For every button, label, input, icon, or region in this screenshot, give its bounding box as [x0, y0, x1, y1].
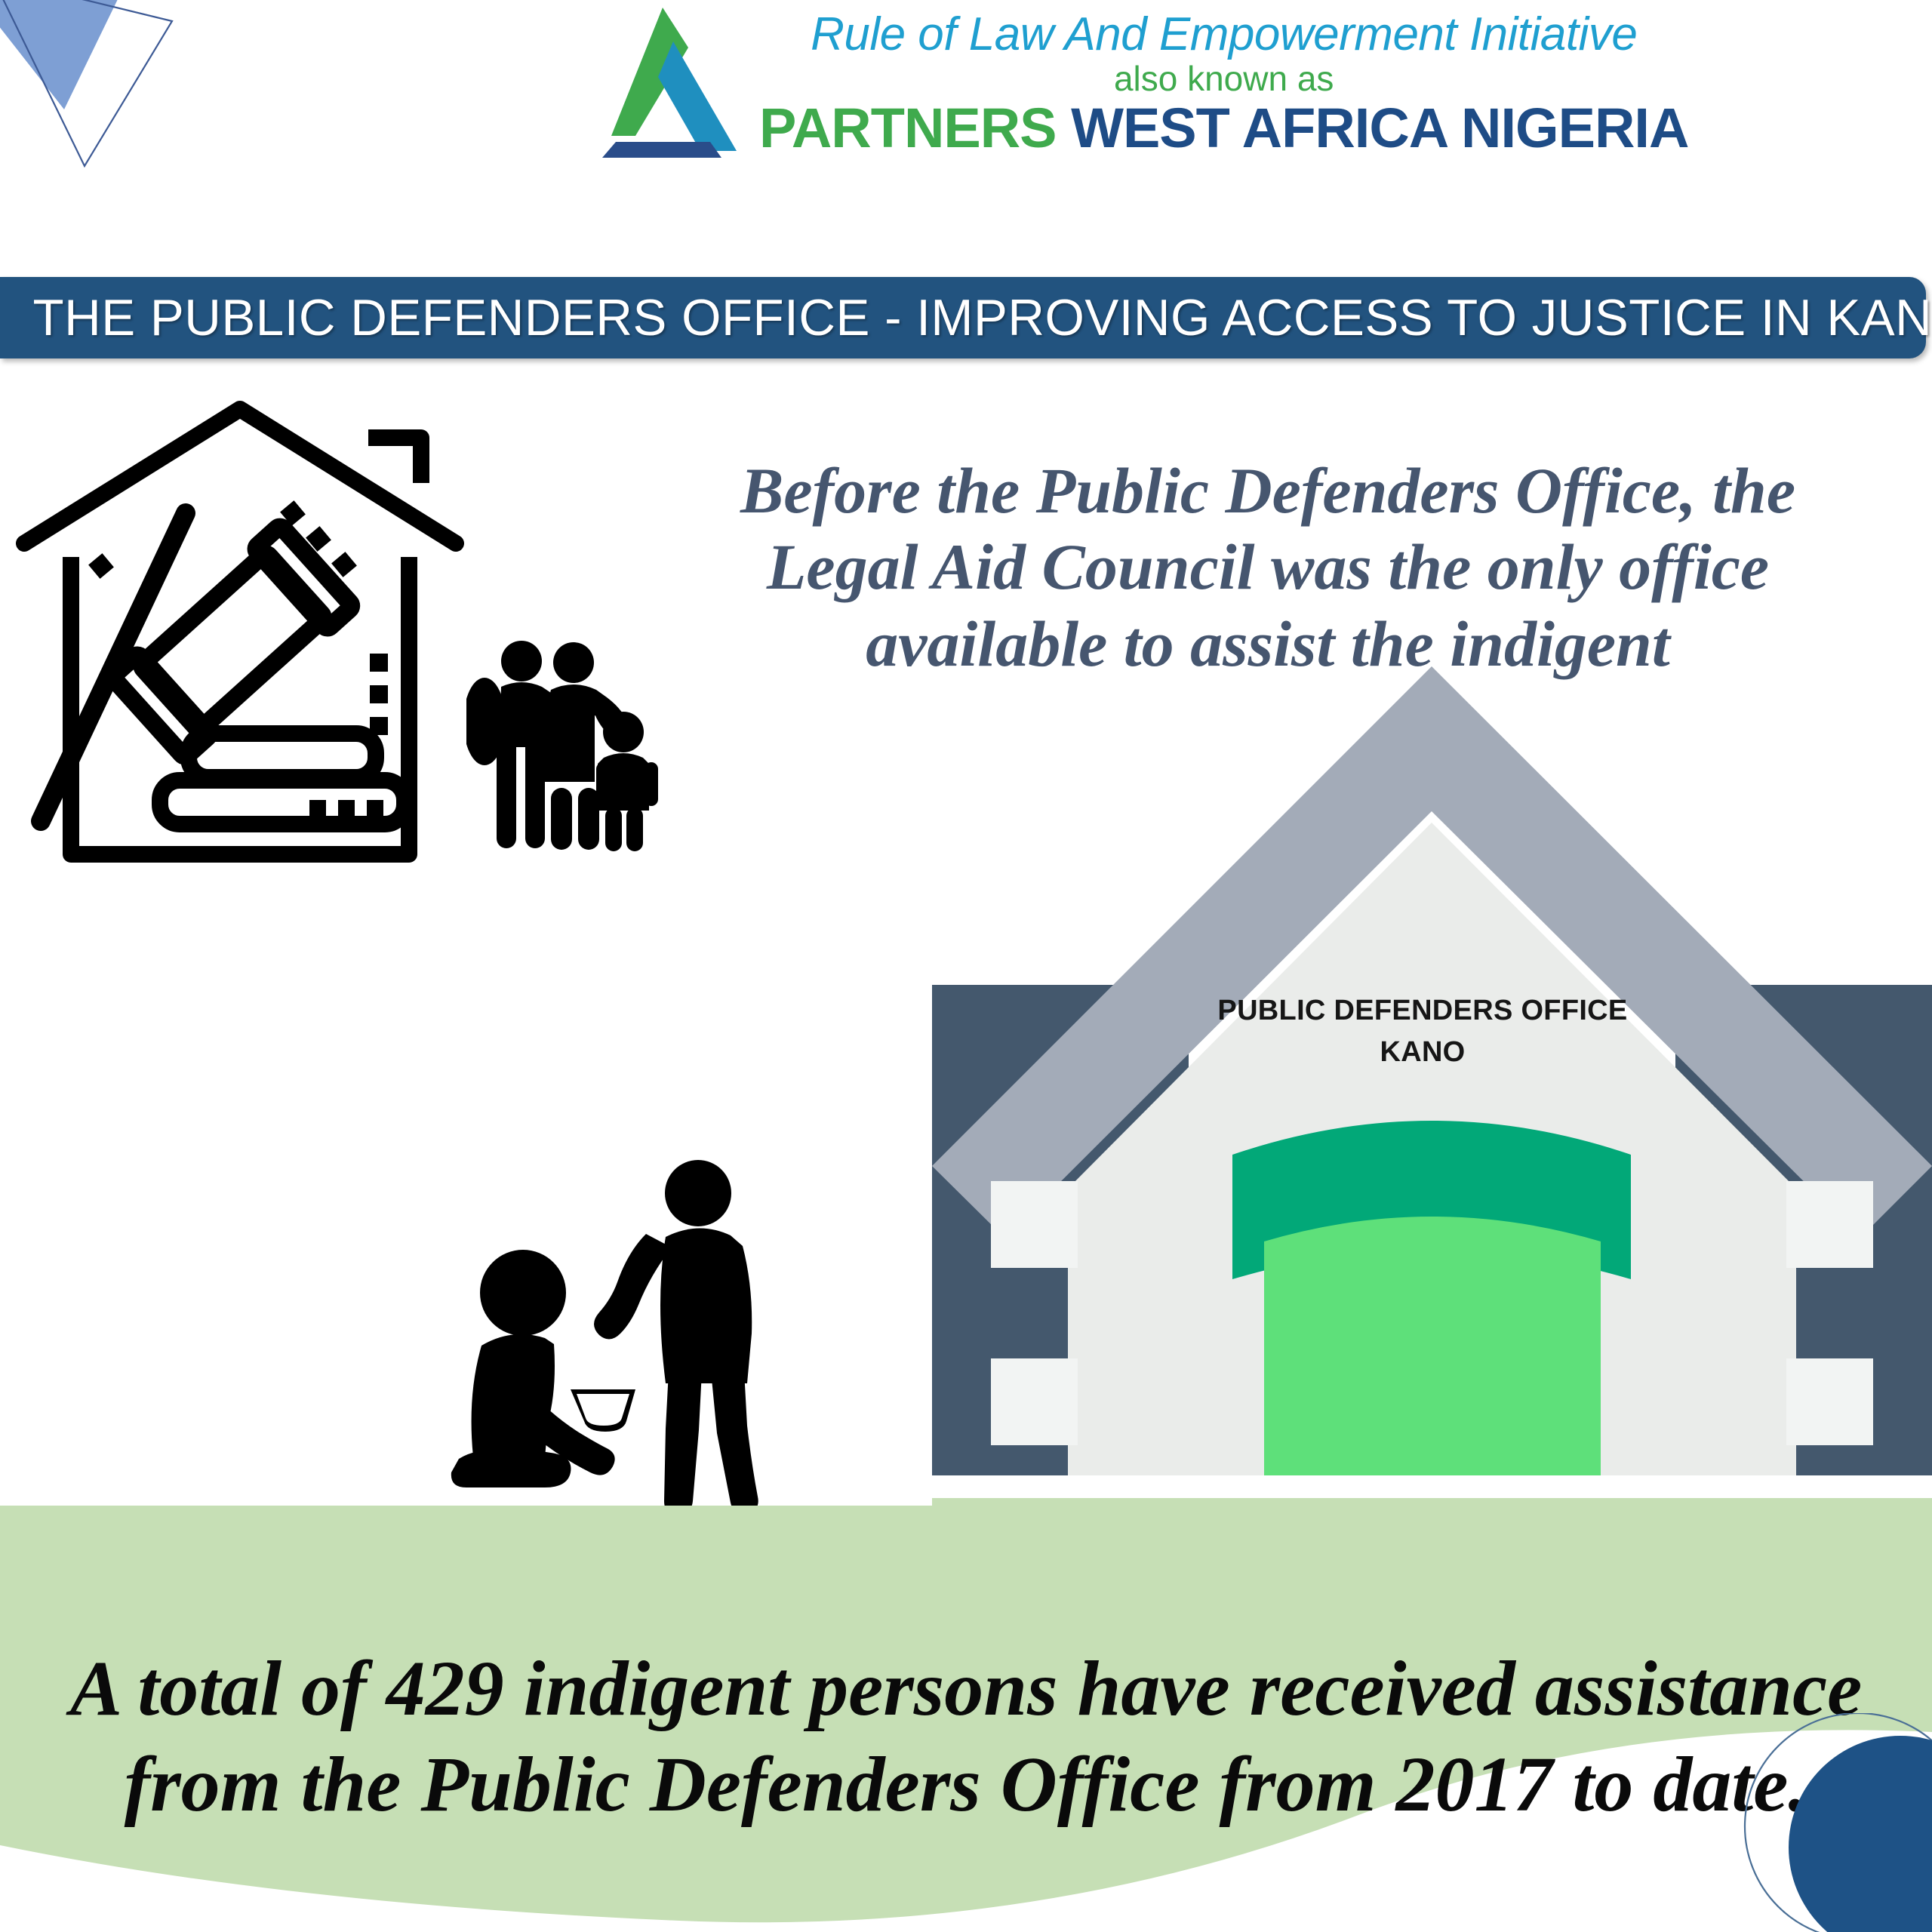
logo-brand-name: PARTNERS WEST AFRICA NIGERIA [759, 100, 1688, 156]
building-window [1786, 1358, 1873, 1445]
logo-brand-partners: PARTNERS [759, 97, 1057, 159]
public-defenders-office-building [932, 660, 1932, 1524]
building-door [1264, 1217, 1601, 1475]
summary-line1: A total of 429 indigent persons have rec… [30, 1641, 1902, 1737]
poster-title-bar: THE PUBLIC DEFENDERS OFFICE - IMPROVING … [0, 277, 1926, 358]
logo-brand-region: WEST AFRICA NIGERIA [1071, 97, 1688, 159]
logo-wordmark: Rule of Law And Empowerment Initiative a… [759, 11, 1688, 156]
page-title: THE PUBLIC DEFENDERS OFFICE - IMPROVING … [0, 288, 1932, 347]
giving-assistance-people-icon [445, 1158, 808, 1513]
building-signage-line1: PUBLIC DEFENDERS OFFICE [1200, 990, 1645, 1032]
courthouse-gavel-icon [14, 392, 466, 875]
building-window [991, 1358, 1078, 1445]
triangle-a-logo-icon [589, 6, 740, 161]
poster-header: Rule of Law And Empowerment Initiative a… [0, 0, 1932, 264]
building-window [991, 1181, 1078, 1268]
building-window [1786, 1181, 1873, 1268]
summary-statistic-text: A total of 429 indigent persons have rec… [30, 1641, 1902, 1833]
logo-tagline-line2: also known as [1114, 61, 1334, 96]
family-group-icon [466, 640, 681, 878]
organization-logo: Rule of Law And Empowerment Initiative a… [589, 6, 1688, 161]
building-signage-line2: KANO [1200, 1032, 1645, 1073]
logo-tagline-line1: Rule of Law And Empowerment Initiative [811, 11, 1637, 58]
infographic-poster: Rule of Law And Empowerment Initiative a… [0, 0, 1932, 1932]
summary-line2: from the Public Defenders Office from 20… [30, 1737, 1902, 1833]
building-signage: PUBLIC DEFENDERS OFFICE KANO [1200, 990, 1645, 1073]
statement-text: Before the Public Defenders Office, the … [724, 453, 1811, 682]
